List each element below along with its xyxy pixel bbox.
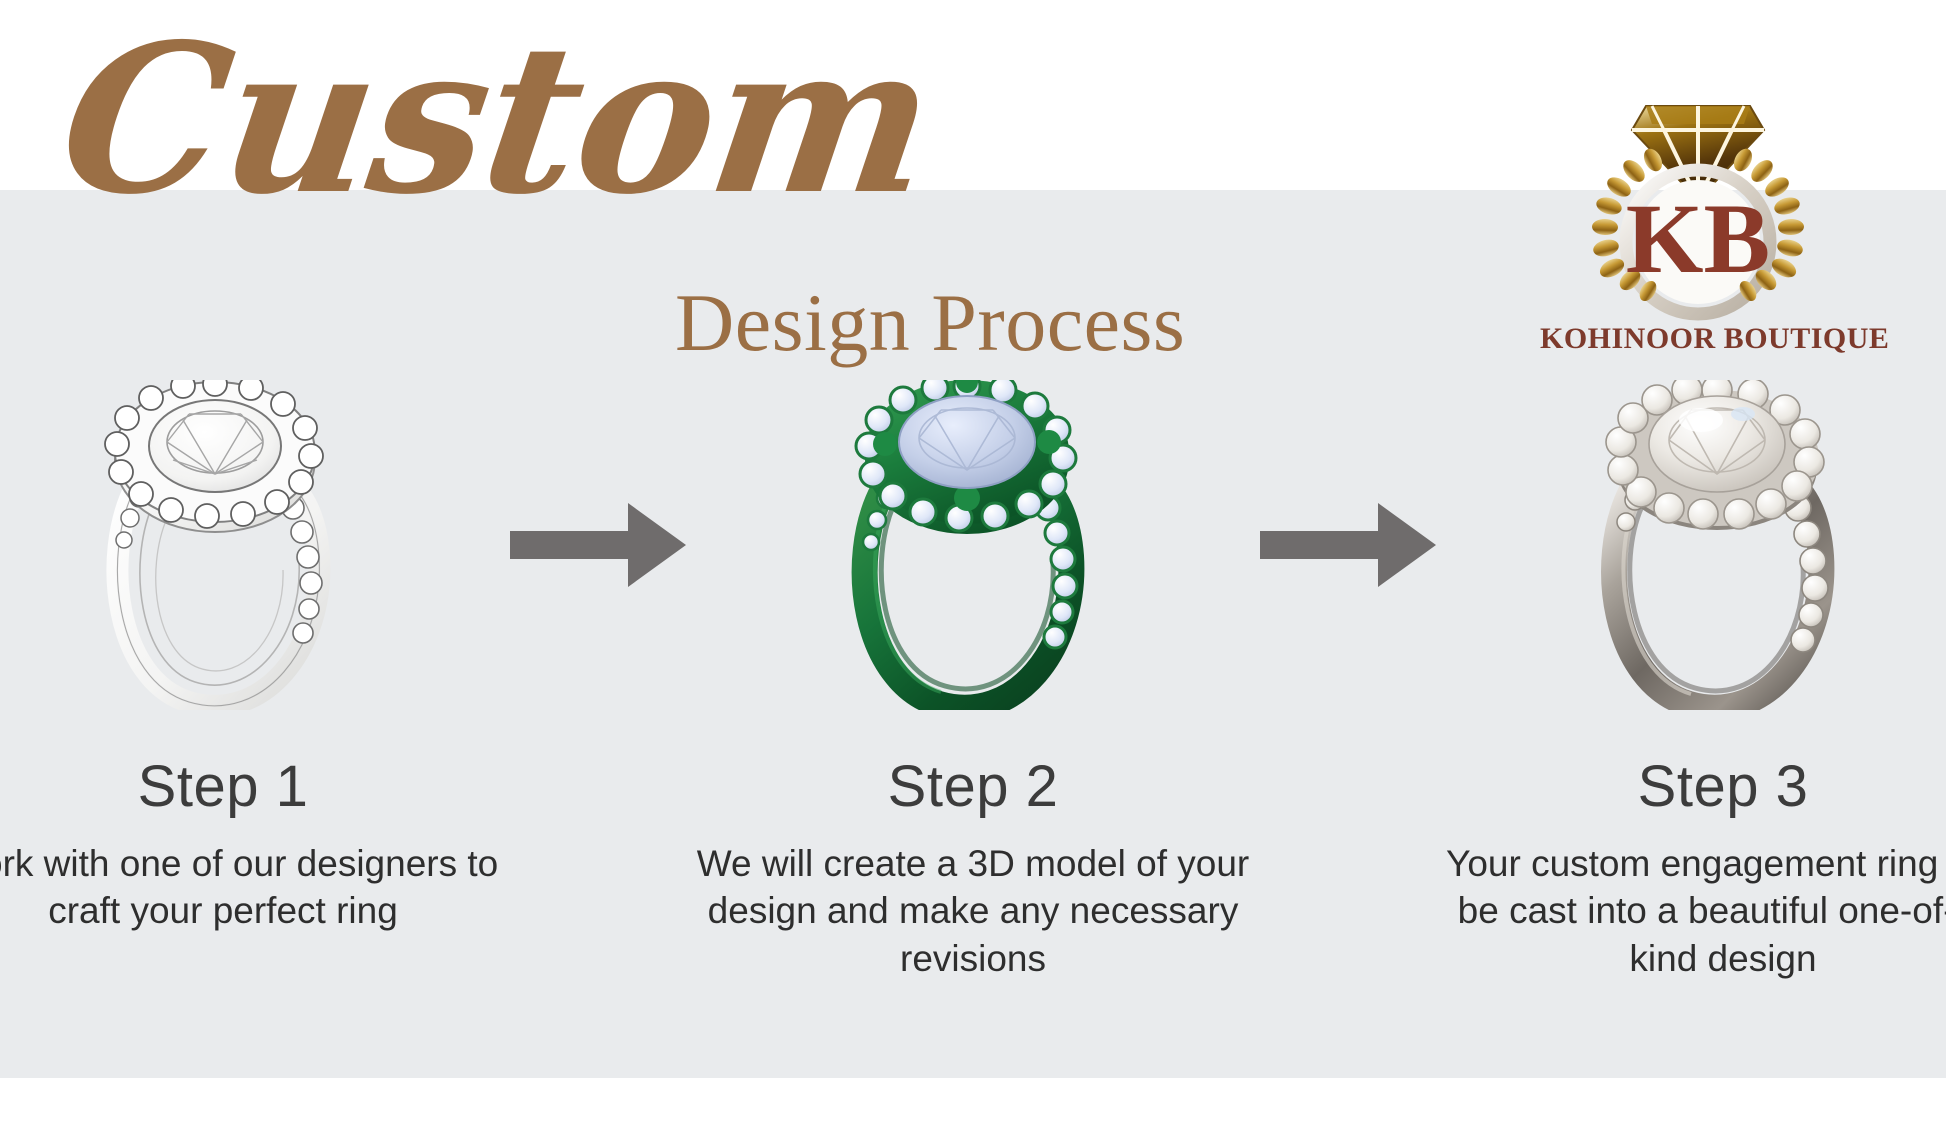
step-title: Step 3	[1638, 758, 1809, 816]
step-2: Step 2 We will create a 3D model of your…	[693, 380, 1253, 982]
step-title: Step 1	[138, 758, 309, 816]
step-3: Step 3 Your custom engagement ring will …	[1443, 380, 1946, 982]
ring-finished-photo-image	[1513, 380, 1933, 710]
step-1: Step 1 Work with one of our designers to…	[0, 380, 503, 935]
steps-row: Step 1 Work with one of our designers to…	[0, 380, 1946, 1080]
page-subtitle: Design Process	[675, 282, 1185, 364]
step-body: We will create a 3D model of your design…	[693, 840, 1253, 982]
step-title: Step 2	[888, 758, 1059, 816]
step-body: Work with one of our designers to craft …	[0, 840, 503, 935]
page-title: Custom	[51, 18, 944, 223]
arrow-right-icon	[503, 380, 693, 710]
design-process-graphic: Custom Design Process	[0, 0, 1946, 1142]
ring-cad-sketch-image	[13, 380, 433, 710]
logo-monogram: KB	[1626, 183, 1770, 294]
logo-brand-name: KOHINOOR BOUTIQUE	[1540, 322, 1860, 356]
step-body: Your custom engagement ring will be cast…	[1443, 840, 1946, 982]
arrow-right-icon	[1253, 380, 1443, 710]
ring-3d-model-image	[763, 380, 1183, 710]
headline-block: Custom Design Process	[55, 10, 1175, 350]
brand-logo[interactable]: KB KOHINOOR BOUTIQUE	[1540, 72, 1860, 372]
logo-mark: KB	[1568, 72, 1828, 322]
